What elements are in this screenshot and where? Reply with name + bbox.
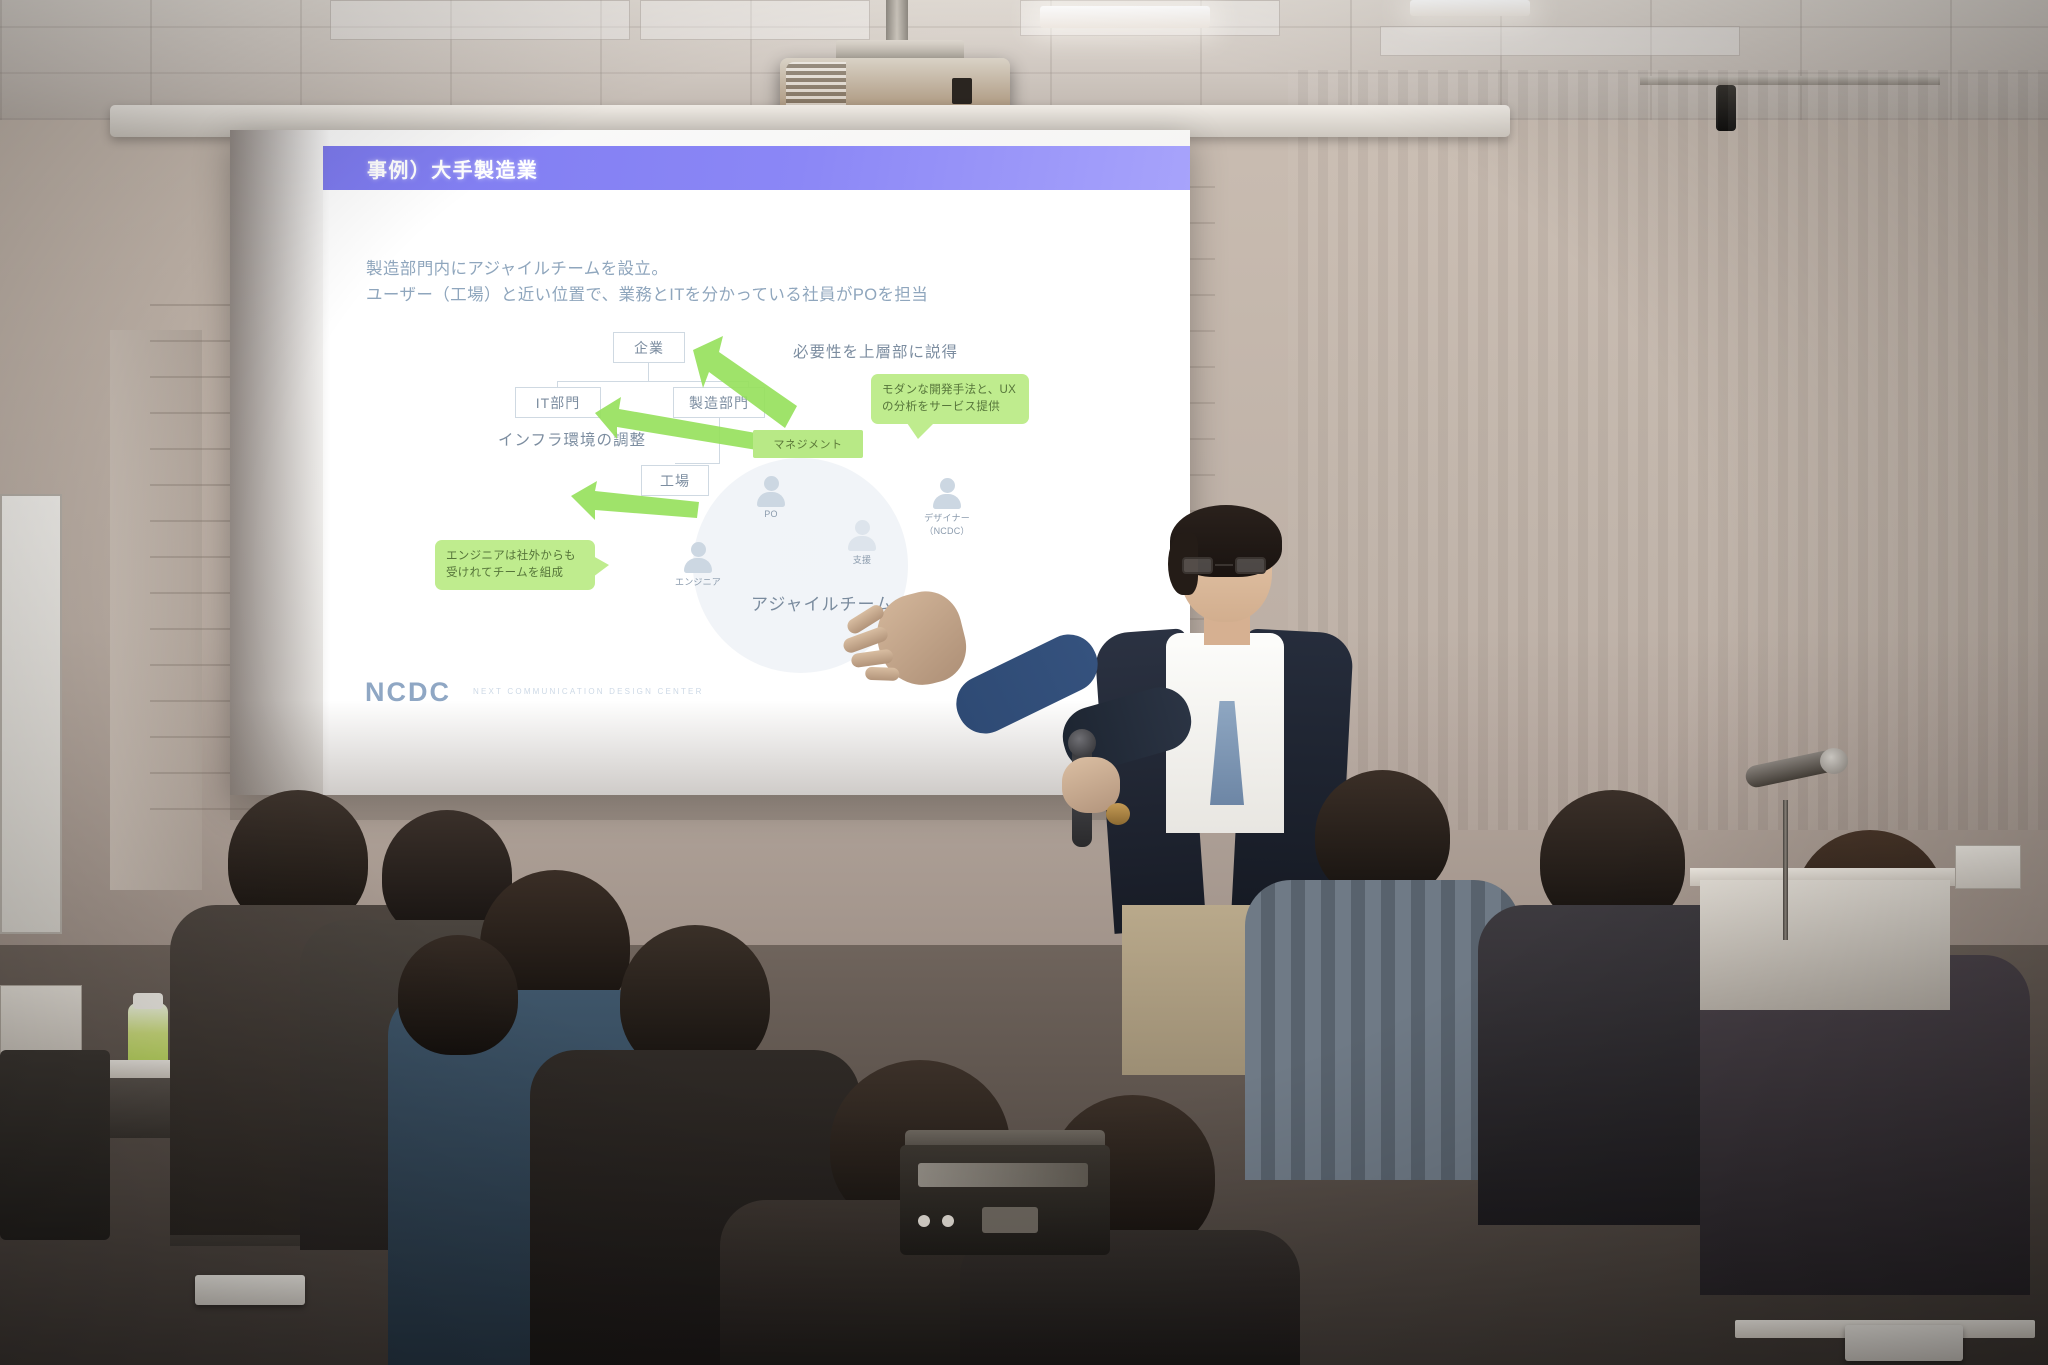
avatar-engineer: エンジニア bbox=[675, 542, 721, 588]
avatar-body bbox=[933, 494, 961, 509]
microphone-head-icon bbox=[1068, 729, 1096, 757]
podium bbox=[1700, 880, 1950, 1010]
slide-body: 製造部門内にアジャイルチームを設立。 ユーザー（工場）と近い位置で、業務とITを… bbox=[323, 190, 1190, 795]
ceiling-panel bbox=[1380, 26, 1740, 56]
console-led bbox=[942, 1215, 954, 1227]
projector-port bbox=[952, 78, 972, 104]
avatar-head bbox=[764, 476, 779, 491]
avatar-body bbox=[848, 536, 876, 551]
avatar-label: デザイナー （NCDC） bbox=[916, 511, 978, 537]
org-node-kigyo: 企業 bbox=[613, 332, 685, 363]
avatar-label: PO bbox=[748, 509, 794, 519]
presentation-room-photo: 事例）大手製造業 製造部門内にアジャイルチームを設立。 ユーザー（工場）と近い位… bbox=[0, 0, 2048, 1365]
green-arrow-left-icon bbox=[571, 480, 701, 524]
whiteboard bbox=[0, 494, 62, 934]
av-console bbox=[900, 1145, 1110, 1255]
org-node-it: IT部門 bbox=[515, 387, 601, 418]
glasses-lens-right bbox=[1235, 557, 1266, 574]
console-led bbox=[918, 1215, 930, 1227]
glasses-bridge bbox=[1215, 564, 1233, 566]
glasses-lens-left bbox=[1182, 557, 1213, 574]
ncdc-logo-subtext: NEXT COMMUNICATION DESIGN CENTER bbox=[473, 687, 704, 696]
finger bbox=[865, 667, 899, 681]
connector bbox=[675, 463, 720, 464]
avatar-body bbox=[684, 558, 712, 573]
avatar-designer: デザイナー （NCDC） bbox=[916, 478, 978, 537]
glasses-icon bbox=[1182, 557, 1266, 576]
wall-outlet bbox=[1955, 845, 2021, 889]
label-persuade: 必要性を上層部に説得 bbox=[793, 340, 958, 362]
slide-header: 事例）大手製造業 bbox=[323, 146, 1190, 190]
avatar-label: エンジニア bbox=[675, 575, 721, 588]
chair bbox=[0, 1050, 110, 1240]
console-port bbox=[982, 1207, 1038, 1233]
laptop bbox=[195, 1275, 305, 1305]
avatar-po: PO bbox=[748, 476, 794, 519]
wall-panel-right bbox=[1288, 70, 2048, 830]
ceiling-panel bbox=[330, 0, 630, 40]
slide-title: 事例）大手製造業 bbox=[367, 154, 538, 183]
management-box: マネジメント bbox=[753, 430, 863, 458]
console-panel bbox=[918, 1163, 1088, 1187]
speech-bubble-ux: モダンな開発手法と、UX の分析をサービス提供 bbox=[871, 374, 1029, 424]
laptop bbox=[1845, 1325, 1963, 1361]
speech-bubble-engineer: エンジニアは社外からも 受けれてチームを組成 bbox=[435, 540, 595, 590]
mic-stand-head-icon bbox=[1820, 748, 1848, 774]
wristwatch bbox=[1106, 803, 1130, 825]
ceiling-light bbox=[1410, 0, 1530, 16]
ncdc-logo: NCDC bbox=[365, 677, 451, 708]
mic-stand-pole bbox=[1783, 800, 1788, 940]
ceiling-light bbox=[1040, 6, 1210, 28]
connector bbox=[648, 363, 649, 381]
avatar-head bbox=[940, 478, 955, 493]
avatar-body bbox=[757, 492, 785, 507]
green-arrow-left-icon bbox=[595, 395, 771, 453]
ceiling-panel bbox=[640, 0, 870, 40]
avatar-support: 支援 bbox=[839, 520, 885, 566]
avatar-head bbox=[855, 520, 870, 535]
slide-lead-text: 製造部門内にアジャイルチームを設立。 ユーザー（工場）と近い位置で、業務とITを… bbox=[366, 256, 928, 308]
avatar-head bbox=[691, 542, 706, 557]
avatar-label: 支援 bbox=[839, 553, 885, 566]
bottle-cap bbox=[133, 993, 163, 1009]
